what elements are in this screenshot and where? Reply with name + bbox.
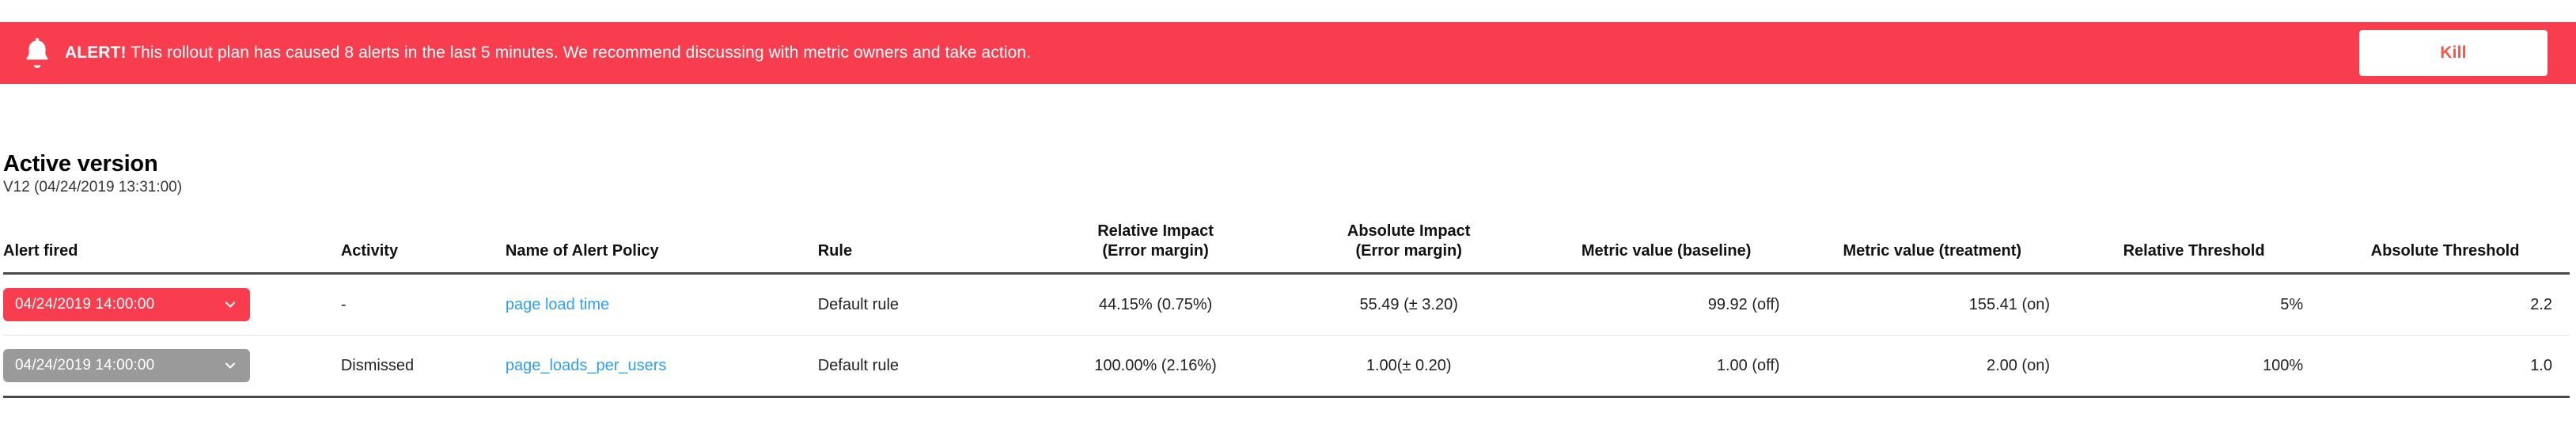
table-header: Alert fired Activity Name of Alert Polic… [3,222,2570,274]
chevron-down-icon [224,298,237,311]
alert-fired-timestamp: 04/24/2019 14:00:00 [15,349,154,382]
cell-alert-fired: 04/24/2019 14:00:00 [3,274,341,336]
column-header-relative-impact: Relative Impact (Error margin) [1029,222,1282,274]
cell-absolute-impact: 55.49 (± 3.20) [1282,274,1536,336]
table-header-row: Alert fired Activity Name of Alert Polic… [3,222,2570,274]
active-version-block: Active version V12 (04/24/2019 13:31:00) [3,150,182,197]
cell-activity: Dismissed [341,336,506,397]
cell-activity: - [341,274,506,336]
cell-alert-fired: 04/24/2019 14:00:00 [3,336,341,397]
cell-relative-threshold: 5% [2067,274,2320,336]
page-title: Active version [3,150,182,177]
cell-policy: page load time [506,274,818,336]
cell-policy: page_loads_per_users [506,336,818,397]
column-header-absolute-impact: Absolute Impact (Error margin) [1282,222,1536,274]
chevron-down-icon [224,359,237,372]
alert-fired-timestamp: 04/24/2019 14:00:00 [15,288,154,321]
cell-metric-baseline: 1.00 (off) [1536,336,1798,397]
cell-rule: Default rule [818,336,1029,397]
column-header-metric-baseline: Metric value (baseline) [1536,222,1798,274]
column-header-policy: Name of Alert Policy [506,222,818,274]
cell-relative-threshold: 100% [2067,336,2320,397]
alert-message: ALERT! This rollout plan has caused 8 al… [65,43,1031,63]
column-header-activity: Activity [341,222,506,274]
version-subtitle: V12 (04/24/2019 13:31:00) [3,178,182,197]
column-header-relative-threshold: Relative Threshold [2067,222,2320,274]
table-row: 04/24/2019 14:00:00 Dismissed page_loads… [3,336,2570,397]
cell-relative-impact: 100.00% (2.16%) [1029,336,1282,397]
cell-rule: Default rule [818,274,1029,336]
alert-message-text: This rollout plan has caused 8 alerts in… [127,44,1032,62]
column-header-rule: Rule [818,222,1029,274]
alerts-table: Alert fired Activity Name of Alert Polic… [3,222,2570,398]
column-header-absolute-threshold: Absolute Threshold [2320,222,2570,274]
cell-absolute-threshold: 2.2 [2320,274,2570,336]
policy-link[interactable]: page load time [506,296,609,313]
column-header-metric-treatment: Metric value (treatment) [1798,222,2067,274]
cell-absolute-impact: 1.00(± 0.20) [1282,336,1536,397]
table-row: 04/24/2019 14:00:00 - page load time Def… [3,274,2570,336]
column-header-alert-fired: Alert fired [3,222,341,274]
cell-metric-treatment: 2.00 (on) [1798,336,2067,397]
cell-metric-treatment: 155.41 (on) [1798,274,2067,336]
alert-banner-content: ALERT! This rollout plan has caused 8 al… [24,37,2359,69]
alert-fired-dropdown[interactable]: 04/24/2019 14:00:00 [3,288,250,321]
alert-fired-dropdown[interactable]: 04/24/2019 14:00:00 [3,349,250,382]
cell-metric-baseline: 99.92 (off) [1536,274,1798,336]
policy-link[interactable]: page_loads_per_users [506,357,667,374]
kill-button[interactable]: Kill [2359,30,2548,76]
bell-icon [24,37,51,69]
alert-banner: ALERT! This rollout plan has caused 8 al… [0,22,2576,84]
table-body: 04/24/2019 14:00:00 - page load time Def… [3,274,2570,397]
cell-absolute-threshold: 1.0 [2320,336,2570,397]
alert-strong-label: ALERT! [65,44,127,62]
cell-relative-impact: 44.15% (0.75%) [1029,274,1282,336]
